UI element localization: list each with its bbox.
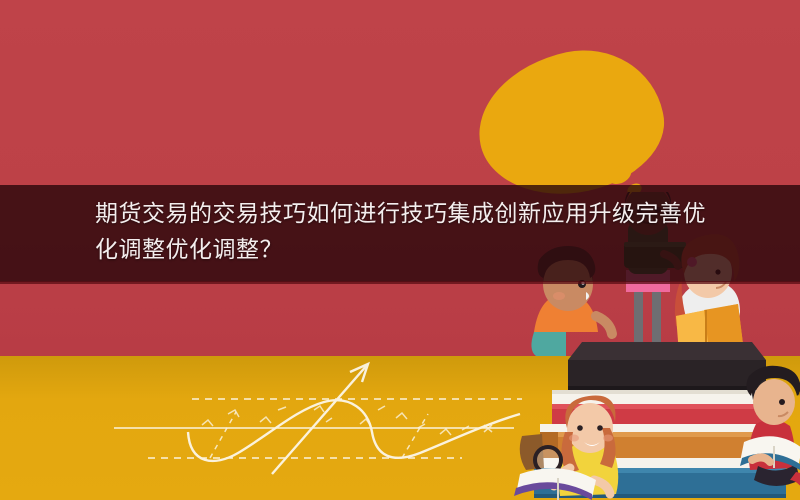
doodle-sine-wave xyxy=(188,400,520,461)
book-black-top xyxy=(568,360,766,386)
page-title: 期货交易的交易技巧如何进行技巧集成创新应用升级完善优化调整优化调整？ xyxy=(95,196,720,268)
poster-canvas: 期货交易的交易技巧如何进行技巧集成创新应用升级完善优化调整优化调整？ xyxy=(0,0,800,500)
doodle-formula-scribbles xyxy=(202,406,492,435)
doodle-tick-a xyxy=(210,412,236,458)
book-black-top-face xyxy=(568,342,766,360)
title-overlay-band-edge xyxy=(0,281,800,284)
math-sine-curve-doodle xyxy=(110,352,530,482)
